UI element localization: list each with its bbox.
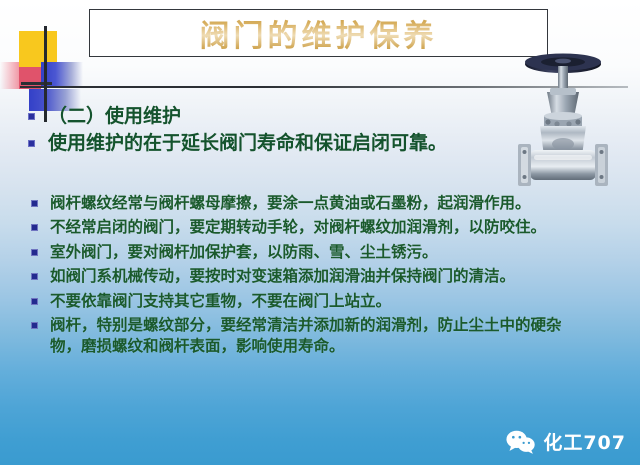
bullet-square-icon (28, 113, 35, 120)
list-item: 使用维护的在于延长阀门寿命和保证启闭可靠。 (28, 131, 528, 156)
slide-canvas: 阀门的维护保养 (0, 0, 640, 465)
sub-bullet-text: 不要依靠阀门支持其它重物，不要在阀门上站立。 (50, 290, 567, 311)
bullet-square-icon (31, 200, 38, 207)
main-bullet-text: （二）使用维护 (48, 104, 181, 129)
page-title: 阀门的维护保养 (89, 9, 548, 57)
sub-bullet-text: 不经常启闭的阀门，要定期转动手轮，对阀杆螺纹加润滑剂，以防咬住。 (50, 216, 567, 237)
wechat-icon (506, 429, 536, 455)
bullet-square-icon (31, 249, 38, 256)
sub-bullet-list: 阀杆螺纹经常与阀杆螺母摩擦，要涂一点黄油或石墨粉，起润滑作用。 不经常启闭的阀门… (31, 192, 591, 360)
watermark-label: 化工707 (543, 428, 626, 455)
watermark: 化工707 (506, 428, 626, 455)
list-item: 不要依靠阀门支持其它重物，不要在阀门上站立。 (31, 290, 591, 311)
bullet-square-icon (31, 322, 38, 329)
bullet-square-icon (31, 224, 38, 231)
list-item: 室外阀门，要对阀杆加保护套，以防雨、雪、尘土锈污。 (31, 241, 591, 262)
list-item: 阀杆，特别是螺纹部分，要经常清洁并添加新的润滑剂，防止尘土中的硬杂物，磨损螺纹和… (31, 314, 591, 357)
bullet-square-icon (31, 298, 38, 305)
list-item: 阀杆螺纹经常与阀杆螺母摩擦，要涂一点黄油或石墨粉，起润滑作用。 (31, 192, 591, 213)
list-item: （二）使用维护 (28, 104, 528, 129)
list-item: 不经常启闭的阀门，要定期转动手轮，对阀杆螺纹加润滑剂，以防咬住。 (31, 216, 591, 237)
main-bullet-text: 使用维护的在于延长阀门寿命和保证启闭可靠。 (48, 131, 447, 156)
sub-bullet-text: 室外阀门，要对阀杆加保护套，以防雨、雪、尘土锈污。 (50, 241, 567, 262)
main-bullet-list: （二）使用维护 使用维护的在于延长阀门寿命和保证启闭可靠。 (28, 104, 528, 158)
bullet-square-icon (31, 273, 38, 280)
list-item: 如阀门系机械传动，要按时对变速箱添加润滑油并保持阀门的清洁。 (31, 265, 591, 286)
sub-bullet-text: 阀杆螺纹经常与阀杆螺母摩擦，要涂一点黄油或石墨粉，起润滑作用。 (50, 192, 567, 213)
bullet-square-icon (28, 140, 35, 147)
sub-bullet-text: 阀杆，特别是螺纹部分，要经常清洁并添加新的润滑剂，防止尘土中的硬杂物，磨损螺纹和… (50, 314, 567, 357)
decoration-short-rule (21, 82, 52, 85)
sub-bullet-text: 如阀门系机械传动，要按时对变速箱添加润滑油并保持阀门的清洁。 (50, 265, 567, 286)
